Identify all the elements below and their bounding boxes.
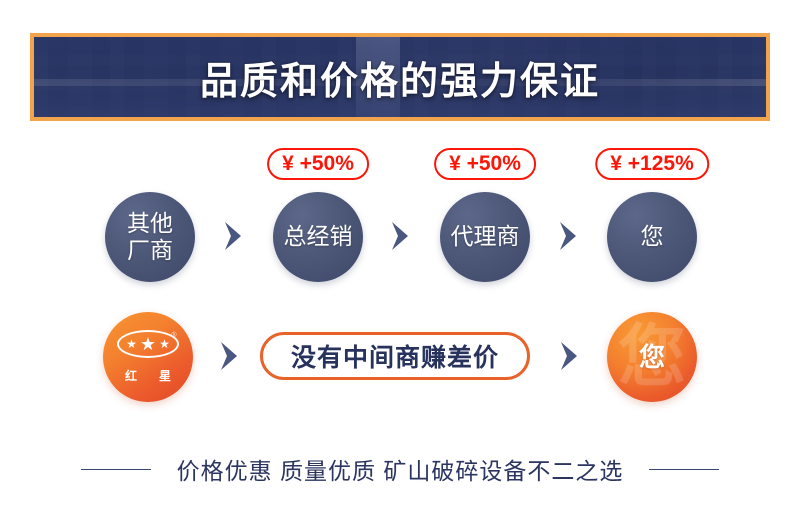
star-icon-right: ★: [159, 338, 170, 350]
chevron-right-icon: [388, 220, 414, 252]
chevron-right-icon: [557, 340, 583, 372]
footer-rule-left: [81, 469, 151, 470]
page-title: 品质和价格的强力保证: [34, 37, 766, 117]
chevron-right-icon: [221, 220, 247, 252]
registered-trademark-icon: ®: [171, 332, 176, 339]
node-label-line1: 代理商: [451, 223, 520, 250]
logo-brand-char-right: 星: [159, 370, 171, 382]
markup-badge-general-distributor: ¥ +50%: [267, 148, 369, 180]
node-label-line1: 您: [641, 223, 664, 250]
node-general-distributor: 总经销: [273, 192, 363, 282]
chevron-right-icon: [217, 340, 243, 372]
no-middleman-pill: 没有中间商赚差价: [260, 332, 530, 380]
node-label-line1: 总经销: [284, 223, 353, 250]
you-label: 您: [639, 344, 665, 370]
header-banner: 品质和价格的强力保证: [30, 33, 770, 121]
node-label-line1: 其他: [127, 210, 173, 237]
markup-badge-you: ¥ +125%: [595, 148, 709, 180]
node-you-direct: 您 您: [607, 312, 697, 402]
node-other-manufacturer: 其他 厂商: [105, 192, 195, 282]
logo-brand-char-left: 红: [125, 370, 137, 382]
star-icon-left: ★: [126, 338, 137, 350]
node-you-indirect: 您: [607, 192, 697, 282]
node-agent: 代理商: [440, 192, 530, 282]
markup-badge-agent: ¥ +50%: [434, 148, 536, 180]
footer-tagline: 价格优惠 质量优质 矿山破碎设备不二之选: [0, 452, 800, 486]
logo-stars-icon: ★ ★ ★: [126, 335, 170, 353]
promo-banner-page: 品质和价格的强力保证 ¥ +50% ¥ +50% ¥ +125% 其他 厂商 总…: [0, 0, 800, 530]
footer-rule-right: [649, 469, 719, 470]
node-label-line2: 厂商: [127, 237, 173, 264]
logo-brand-text: 红 星: [125, 370, 171, 382]
chevron-right-icon: [556, 220, 582, 252]
footer-text: 价格优惠 质量优质 矿山破碎设备不二之选: [177, 452, 624, 486]
star-icon-center: ★: [140, 335, 156, 353]
hongxing-brand-logo: ★ ★ ★ ® 红 星: [103, 312, 193, 402]
